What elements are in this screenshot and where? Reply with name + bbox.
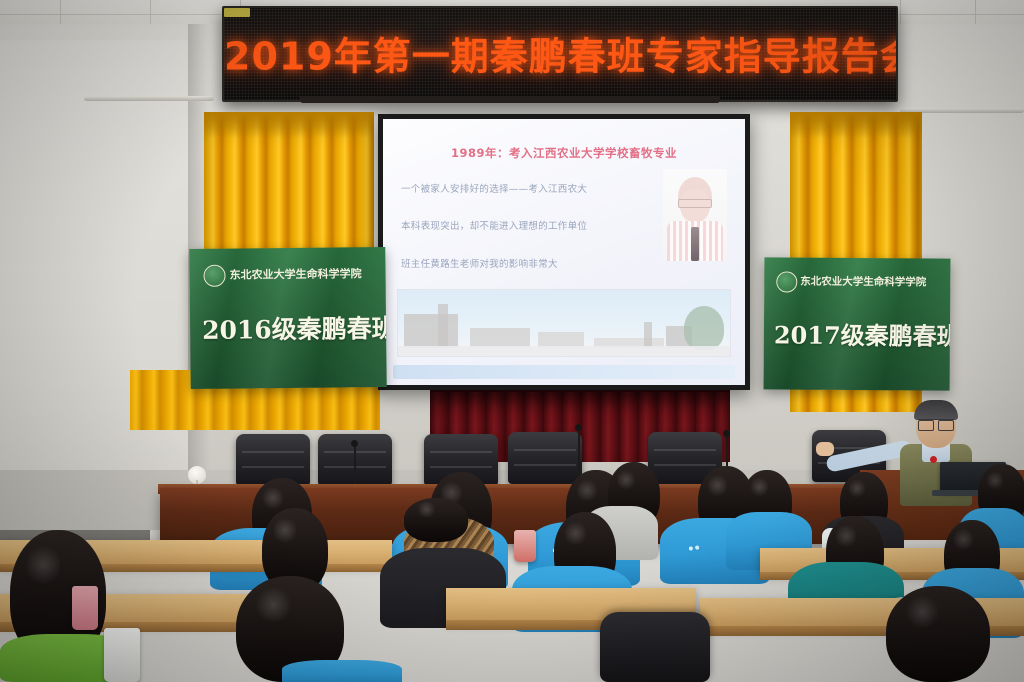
speaker-hair <box>914 400 958 420</box>
backpack <box>600 612 710 682</box>
stage-chair <box>508 432 582 484</box>
banner-right-header: 东北农业大学生命科学学院 <box>800 274 926 290</box>
slide-campus-photo <box>397 289 731 357</box>
slide-title: 1989年：考入江西农业大学学校畜牧专业 <box>383 145 745 161</box>
projection-screen: 1989年：考入江西农业大学学校畜牧专业 一个被家人安排好的选择——考入江西农大… <box>383 119 745 385</box>
projection-screen-frame: 1989年：考入江西农业大学学校畜牧专业 一个被家人安排好的选择——考入江西农大… <box>378 114 750 390</box>
thermos-cup-white <box>104 628 140 682</box>
slide-footer-bar <box>393 365 735 379</box>
microphone-head <box>351 440 358 447</box>
banner-right-main: 2017级秦鹏春班 <box>774 315 951 351</box>
curtain-rail-left <box>84 96 214 101</box>
thermos-cup-pink <box>72 586 98 630</box>
thermos-cup-red <box>514 530 536 562</box>
slide-bullet-3: 班主任黄路生老师对我的影响非常大 <box>401 256 558 270</box>
slide-bullet-1: 一个被家人安排好的选择——考入江西农大 <box>401 181 587 195</box>
microphone-head <box>723 430 730 437</box>
microphone-stem <box>354 444 356 486</box>
led-label-sticker <box>224 8 250 17</box>
university-logo-icon <box>203 265 225 287</box>
university-logo-icon <box>776 271 797 292</box>
class-banner-2017: 东北农业大学生命科学学院 2017级秦鹏春班 <box>764 257 951 390</box>
slide-bullet-2: 本科表现突出，却不能进入理想的工作单位 <box>401 218 587 232</box>
glasses-icon <box>918 419 954 429</box>
student-jacket <box>282 660 402 682</box>
led-banner-text: 2019年第一期秦鹏春班专家指导报告会 <box>224 25 896 80</box>
speaker-hand <box>816 442 834 456</box>
left-wall-panel <box>0 40 188 510</box>
presentation-slide: 1989年：考入江西农业大学学校畜牧专业 一个被家人安排好的选择——考入江西农大… <box>383 119 745 385</box>
banner-left-main: 2016级秦鹏春班 <box>202 309 387 347</box>
student-head <box>404 498 468 542</box>
microphone-head <box>575 424 582 431</box>
lecture-hall-photo: 2019年第一期秦鹏春班专家指导报告会 1989年：考入江西农业大学学校畜牧专业… <box>0 0 1024 682</box>
led-banner: 2019年第一期秦鹏春班专家指导报告会 <box>222 6 898 102</box>
slide-portrait-photo <box>663 169 727 261</box>
class-banner-2016: 东北农业大学生命科学学院 2016级秦鹏春班 <box>189 247 386 389</box>
banner-left-header: 东北农业大学生命科学学院 <box>229 265 361 282</box>
student-head-foreground <box>886 586 990 682</box>
led-banner-mount <box>300 96 720 103</box>
lapel-pin-icon <box>930 456 937 463</box>
